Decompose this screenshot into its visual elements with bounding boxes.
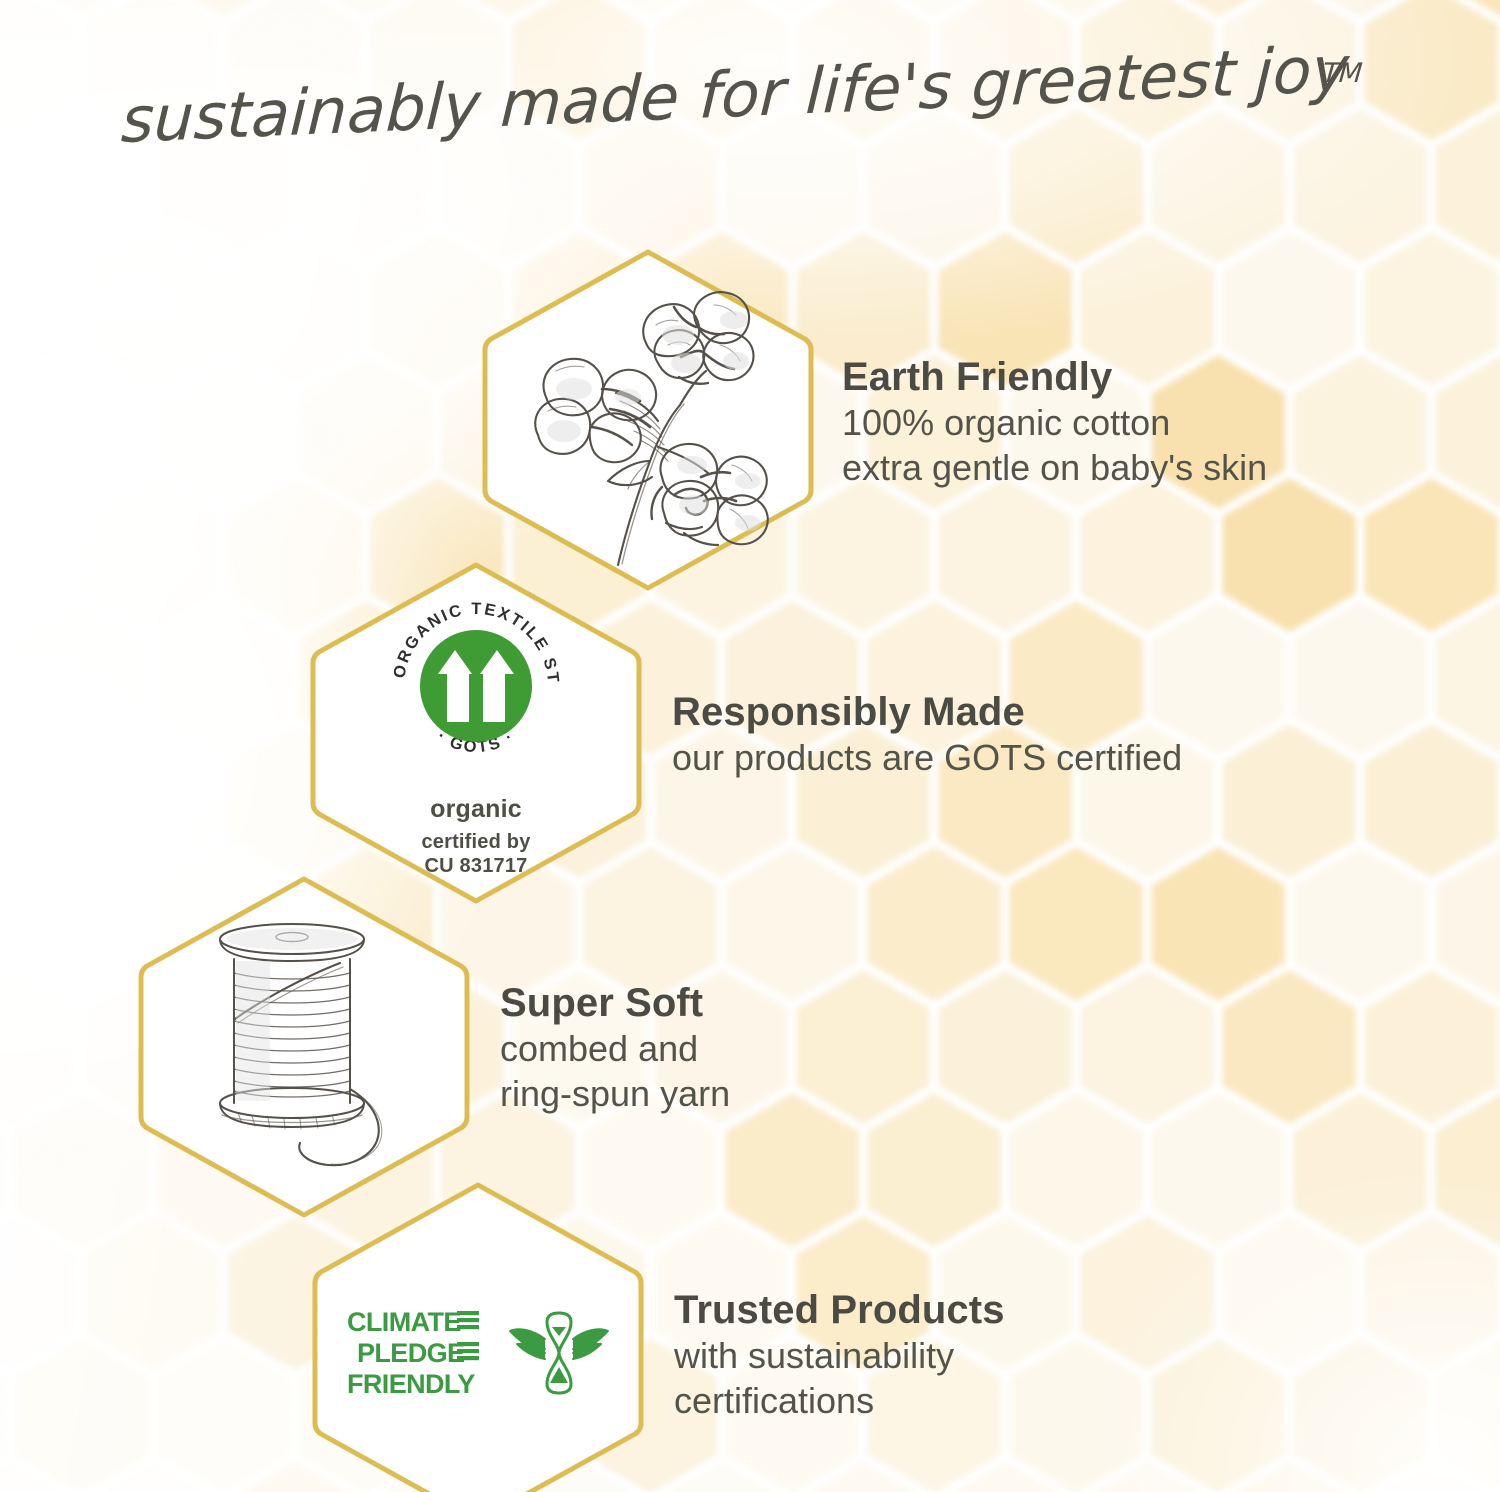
feature-title: Super Soft: [500, 981, 730, 1026]
feature-line: combed and: [500, 1026, 730, 1071]
cpf-line-1: CLIMATE: [347, 1307, 461, 1337]
gots-organic-label: organic: [430, 795, 522, 824]
feature-line: ring-spun yarn: [500, 1071, 730, 1116]
hex-card-super-soft[interactable]: [134, 872, 474, 1222]
feature-earth-friendly: Earth Friendly 100% organic cotton extra…: [478, 245, 1267, 595]
feature-line: our products are GOTS certified: [672, 735, 1182, 780]
cotton-boll-sketch-icon: [498, 265, 798, 575]
headline-script-text: sustainably made for life's greatest joy…: [100, 44, 1400, 144]
hex-card-trusted-products[interactable]: CLIMATE PLEDGE FRIENDLY: [308, 1178, 648, 1492]
gots-certification-icon: GLOBAL ORGANIC TEXTILE STANDARD · GOTS ·…: [378, 588, 574, 879]
cpf-line-2: PLEDGE: [357, 1338, 464, 1368]
feature-line: 100% organic cotton: [842, 400, 1267, 445]
copy-earth-friendly: Earth Friendly 100% organic cotton extra…: [842, 355, 1267, 491]
headline-trademark: TM: [1321, 58, 1363, 89]
feature-title: Trusted Products: [674, 1288, 1005, 1333]
copy-super-soft: Super Soft combed and ring-spun yarn: [500, 981, 730, 1117]
climate-pledge-friendly-icon: CLIMATE PLEDGE FRIENDLY: [345, 1304, 611, 1402]
sustainability-infographic: sustainably made for life's greatest joy…: [0, 0, 1500, 1492]
feature-line: extra gentle on baby's skin: [842, 445, 1267, 490]
thread-spool-sketch-icon: [164, 897, 444, 1197]
feature-responsibly-made: GLOBAL ORGANIC TEXTILE STANDARD · GOTS ·…: [306, 558, 1182, 908]
feature-trusted-products: CLIMATE PLEDGE FRIENDLY: [308, 1178, 1005, 1492]
gots-seal: GLOBAL ORGANIC TEXTILE STANDARD · GOTS ·: [378, 588, 574, 784]
hex-card-responsibly-made[interactable]: GLOBAL ORGANIC TEXTILE STANDARD · GOTS ·…: [306, 558, 646, 908]
headline-main: sustainably made for life's greatest joy: [120, 44, 1353, 144]
gots-green-circle: [420, 630, 532, 742]
feature-line: certifications: [674, 1378, 1005, 1423]
copy-trusted-products: Trusted Products with sustainability cer…: [674, 1288, 1005, 1424]
cpf-line-3: FRIENDLY: [347, 1369, 475, 1399]
feature-super-soft: Super Soft combed and ring-spun yarn: [134, 872, 730, 1222]
feature-line: with sustainability: [674, 1333, 1005, 1378]
cpf-wordmark: CLIMATE PLEDGE FRIENDLY: [345, 1304, 493, 1402]
winged-hourglass-icon: [507, 1305, 611, 1401]
feature-title: Responsibly Made: [672, 690, 1182, 735]
feature-title: Earth Friendly: [842, 355, 1267, 400]
gots-certified-by: certified by: [421, 830, 530, 854]
copy-responsibly-made: Responsibly Made our products are GOTS c…: [672, 690, 1182, 780]
headline: sustainably made for life's greatest joy…: [0, 44, 1500, 144]
hex-card-earth-friendly[interactable]: [478, 245, 818, 595]
